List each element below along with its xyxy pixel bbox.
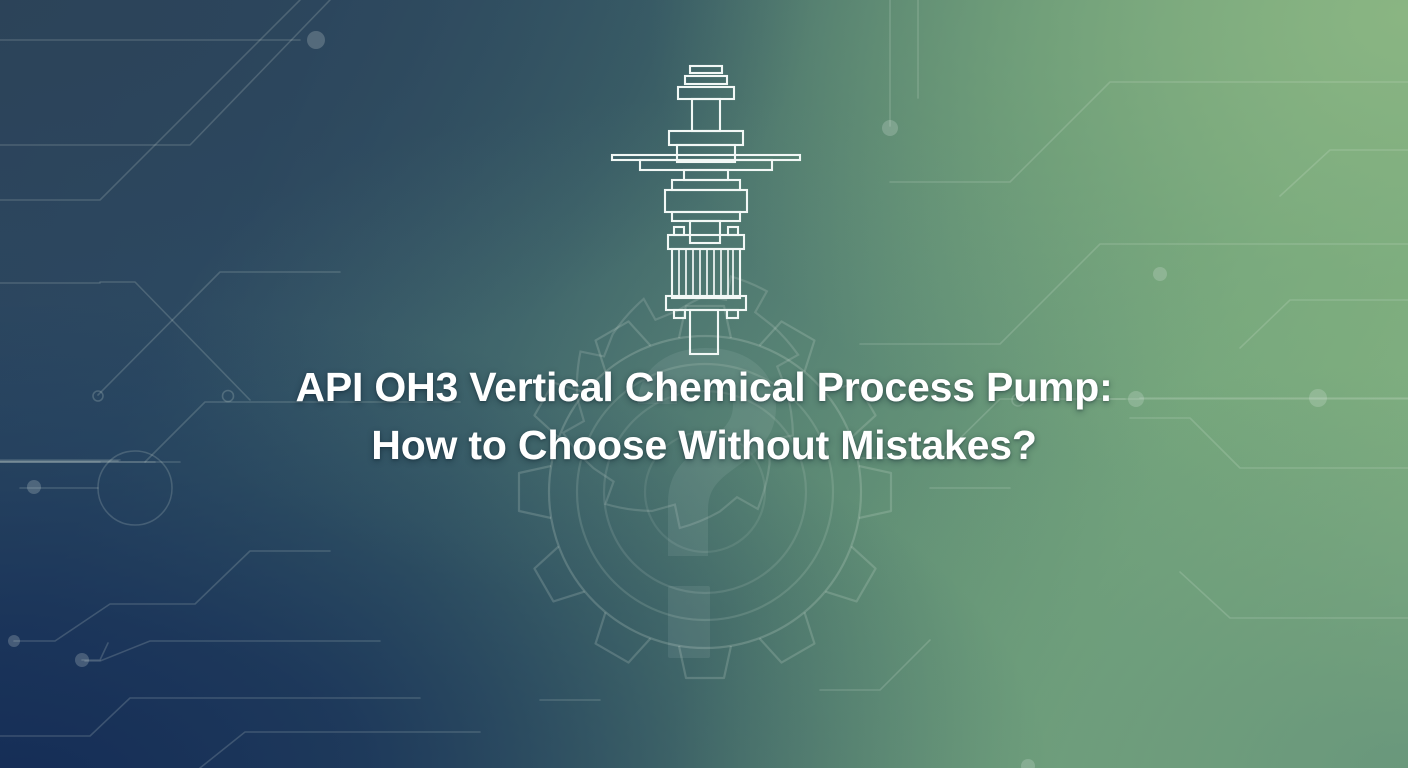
- title-line-1: API OH3 Vertical Chemical Process Pump:: [60, 358, 1348, 416]
- page-title: API OH3 Vertical Chemical Process Pump: …: [0, 358, 1408, 474]
- hero-banner: API OH3 Vertical Chemical Process Pump: …: [0, 0, 1408, 768]
- title-line-2: How to Choose Without Mistakes?: [60, 416, 1348, 474]
